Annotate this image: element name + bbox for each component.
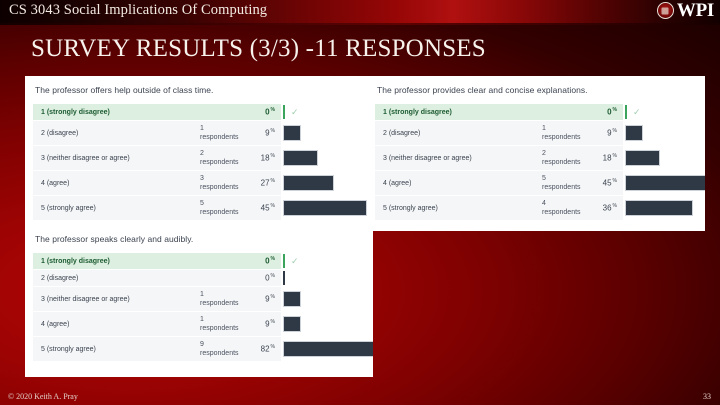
table-row: 5 (strongly agree)4respondents36% xyxy=(375,196,705,221)
row-percent: 0% xyxy=(593,104,623,121)
question-title-3: The professor speaks clearly and audibly… xyxy=(35,234,193,244)
bar xyxy=(625,200,693,216)
row-label: 2 (disagree) xyxy=(33,270,193,287)
row-respondent-count: 1respondents xyxy=(193,121,251,146)
bar xyxy=(625,125,643,141)
row-respondent-count: 9respondents xyxy=(193,337,251,362)
row-respondent-count: 1respondents xyxy=(535,121,593,146)
row-percent: 9% xyxy=(251,287,281,312)
course-title: CS 3043 Social Implications Of Computing xyxy=(9,2,267,19)
row-label: 5 (strongly agree) xyxy=(33,337,193,362)
check-icon: ✓ xyxy=(283,254,309,268)
row-percent: 27% xyxy=(251,171,281,196)
row-bar-cell xyxy=(623,196,705,221)
row-respondent-count: 5respondents xyxy=(193,196,251,221)
table-row: 4 (agree)5respondents45% xyxy=(375,171,705,196)
row-percent: 0% xyxy=(251,253,281,270)
row-percent: 18% xyxy=(593,146,623,171)
row-respondent-count xyxy=(193,104,251,121)
row-percent: 36% xyxy=(593,196,623,221)
survey-table-1: 1 (strongly disagree)0%✓2 (disagree)1res… xyxy=(33,104,365,221)
row-percent: 9% xyxy=(251,312,281,337)
bar-zero xyxy=(283,271,285,285)
row-respondent-count: 5respondents xyxy=(535,171,593,196)
row-percent: 9% xyxy=(251,121,281,146)
survey-panel-left: The professor offers help outside of cla… xyxy=(25,76,373,377)
row-bar-cell xyxy=(623,171,705,196)
row-percent: 9% xyxy=(593,121,623,146)
row-respondent-count: 1respondents xyxy=(193,312,251,337)
bar xyxy=(625,175,705,191)
bar xyxy=(283,316,301,332)
bar xyxy=(625,150,660,166)
table-row: 2 (disagree)1respondents9% xyxy=(375,121,705,146)
table-row: 3 (neither disagree or agree)2respondent… xyxy=(375,146,705,171)
row-bar-cell xyxy=(281,171,365,196)
page-title: SURVEY RESULTS (3/3) -11 RESPONSES xyxy=(31,35,486,63)
row-bar-cell: ✓ xyxy=(281,104,365,121)
bar xyxy=(283,341,373,357)
row-respondent-count xyxy=(535,104,593,121)
row-label: 3 (neither disagree or agree) xyxy=(33,146,193,171)
row-bar-cell: ✓ xyxy=(281,253,365,270)
row-bar-cell xyxy=(281,287,365,312)
slide-canvas: CS 3043 Social Implications Of Computing… xyxy=(0,0,720,405)
wpi-logo: WPI xyxy=(657,1,714,20)
row-label: 1 (strongly disagree) xyxy=(375,104,535,121)
row-label: 2 (disagree) xyxy=(375,121,535,146)
row-percent: 0% xyxy=(251,104,281,121)
table-row: 1 (strongly disagree)0%✓ xyxy=(375,104,705,121)
table-row: 1 (strongly disagree)0%✓ xyxy=(33,253,365,270)
row-label: 3 (neither disagree or agree) xyxy=(375,146,535,171)
bar xyxy=(283,175,334,191)
table-row: 5 (strongly agree)9respondents82% xyxy=(33,337,365,362)
row-label: 5 (strongly agree) xyxy=(375,196,535,221)
check-icon: ✓ xyxy=(283,105,309,119)
table-row: 1 (strongly disagree)0%✓ xyxy=(33,104,365,121)
check-icon: ✓ xyxy=(625,105,651,119)
row-respondent-count xyxy=(193,253,251,270)
row-respondent-count xyxy=(193,270,251,287)
question-title-1: The professor offers help outside of cla… xyxy=(35,85,213,95)
row-bar-cell: ✓ xyxy=(623,104,705,121)
bar xyxy=(283,200,367,216)
row-percent: 0% xyxy=(251,270,281,287)
row-label: 1 (strongly disagree) xyxy=(33,104,193,121)
table-row: 3 (neither disagree or agree)2respondent… xyxy=(33,146,365,171)
row-bar-cell xyxy=(281,121,365,146)
survey-panel-right: The professor provides clear and concise… xyxy=(367,76,705,231)
table-row: 2 (disagree)1respondents9% xyxy=(33,121,365,146)
row-bar-cell xyxy=(281,270,365,287)
row-respondent-count: 2respondents xyxy=(193,146,251,171)
row-label: 4 (agree) xyxy=(33,312,193,337)
row-bar-cell xyxy=(281,196,365,221)
table-row: 3 (neither disagree or agree)1respondent… xyxy=(33,287,365,312)
row-bar-cell xyxy=(623,121,705,146)
survey-table-3: 1 (strongly disagree)0%✓2 (disagree)0%3 … xyxy=(33,253,365,362)
row-label: 2 (disagree) xyxy=(33,121,193,146)
row-label: 5 (strongly agree) xyxy=(33,196,193,221)
footer-copyright: © 2020 Keith A. Pray xyxy=(8,392,78,401)
slide-header-band: CS 3043 Social Implications Of Computing… xyxy=(0,0,720,25)
row-percent: 82% xyxy=(251,337,281,362)
survey-table-2: 1 (strongly disagree)0%✓2 (disagree)1res… xyxy=(375,104,705,221)
row-bar-cell xyxy=(281,337,365,362)
wpi-logo-text: WPI xyxy=(677,1,714,20)
bar xyxy=(283,291,301,307)
row-label: 4 (agree) xyxy=(33,171,193,196)
row-percent: 45% xyxy=(593,171,623,196)
row-label: 4 (agree) xyxy=(375,171,535,196)
table-row: 2 (disagree)0% xyxy=(33,270,365,287)
table-row: 4 (agree)3respondents27% xyxy=(33,171,365,196)
footer-page-number: 33 xyxy=(703,392,711,401)
row-label: 1 (strongly disagree) xyxy=(33,253,193,270)
question-title-2: The professor provides clear and concise… xyxy=(377,85,588,95)
row-label: 3 (neither disagree or agree) xyxy=(33,287,193,312)
bar xyxy=(283,150,318,166)
table-row: 5 (strongly agree)5respondents45% xyxy=(33,196,365,221)
wpi-seal-icon xyxy=(657,2,674,19)
row-respondent-count: 1respondents xyxy=(193,287,251,312)
row-bar-cell xyxy=(281,146,365,171)
row-percent: 18% xyxy=(251,146,281,171)
bar xyxy=(283,125,301,141)
row-respondent-count: 3respondents xyxy=(193,171,251,196)
row-respondent-count: 2respondents xyxy=(535,146,593,171)
table-row: 4 (agree)1respondents9% xyxy=(33,312,365,337)
row-bar-cell xyxy=(281,312,365,337)
row-bar-cell xyxy=(623,146,705,171)
row-respondent-count: 4respondents xyxy=(535,196,593,221)
row-percent: 45% xyxy=(251,196,281,221)
